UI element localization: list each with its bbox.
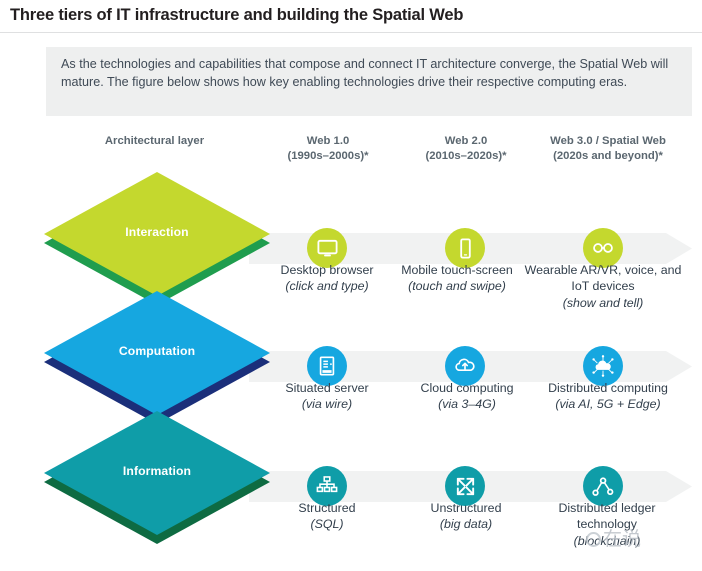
layer-plate-information[interactable]: Information [44,411,270,535]
cell-caption-web3-interaction: Wearable AR/VR, voice, and IoT devices (… [523,262,683,311]
header-web-1-line2: (1990s–2000s)* [254,149,402,164]
intro-text: As the technologies and capabilities tha… [61,56,677,91]
layer-label-information: Information [44,464,270,478]
cell-caption-web2-interaction: Mobile touch-screen (touch and swipe) [399,262,515,295]
layer-label-computation: Computation [44,344,270,358]
cell-caption-web1-information: Structured (SQL) [268,500,386,533]
header-web-3-line1: Web 3.0 / Spatial Web [524,134,692,149]
cell-title: Wearable AR/VR, voice, and IoT devices [525,263,682,293]
header-web-3-line2: (2020s and beyond)* [524,149,692,164]
header-web-2-line2: (2010s–2020s)* [392,149,540,164]
cell-note: (big data) [406,516,526,532]
cell-title: Cloud computing [421,381,514,395]
cell-note: (click and type) [252,278,402,294]
cell-note: (via wire) [256,396,398,412]
header-architectural-layer: Architectural layer [62,134,247,149]
intro-callout: As the technologies and capabilities tha… [46,47,692,116]
header-web-2-line1: Web 2.0 [392,134,540,149]
header-web-1: Web 1.0 (1990s–2000s)* [254,134,402,164]
cell-caption-web2-computation: Cloud computing (via 3–4G) [392,380,542,413]
cell-title: Unstructured [431,501,502,515]
layer-plate-computation[interactable]: Computation [44,291,270,415]
cell-caption-web3-information: Distributed ledger technology (blockchai… [527,500,687,549]
cell-note: (SQL) [268,516,386,532]
header-web-1-line1: Web 1.0 [254,134,402,149]
page-title: Three tiers of IT infrastructure and bui… [10,6,463,25]
cell-title: Structured [298,501,355,515]
layer-label-interaction: Interaction [44,225,270,239]
cell-caption-web1-interaction: Desktop browser (click and type) [252,262,402,295]
cell-note: (via 3–4G) [392,396,542,412]
title-divider [0,32,702,33]
cell-caption-web3-computation: Distributed computing (via AI, 5G + Edge… [524,380,692,413]
cell-caption-web2-information: Unstructured (big data) [406,500,526,533]
header-web-2: Web 2.0 (2010s–2020s)* [392,134,540,164]
cell-note: (show and tell) [523,295,683,311]
header-web-3: Web 3.0 / Spatial Web (2020s and beyond)… [524,134,692,164]
cell-note: (touch and swipe) [399,278,515,294]
layer-plate-interaction[interactable]: Interaction [44,172,270,296]
cell-title: Desktop browser [281,263,374,277]
cell-title: Distributed ledger technology [558,501,655,531]
cell-note: (blockchain) [527,533,687,549]
cell-caption-web1-computation: Situated server (via wire) [256,380,398,413]
cell-title: Situated server [285,381,368,395]
cell-title: Distributed computing [548,381,668,395]
cell-title: Mobile touch-screen [401,263,513,277]
cell-note: (via AI, 5G + Edge) [524,396,692,412]
